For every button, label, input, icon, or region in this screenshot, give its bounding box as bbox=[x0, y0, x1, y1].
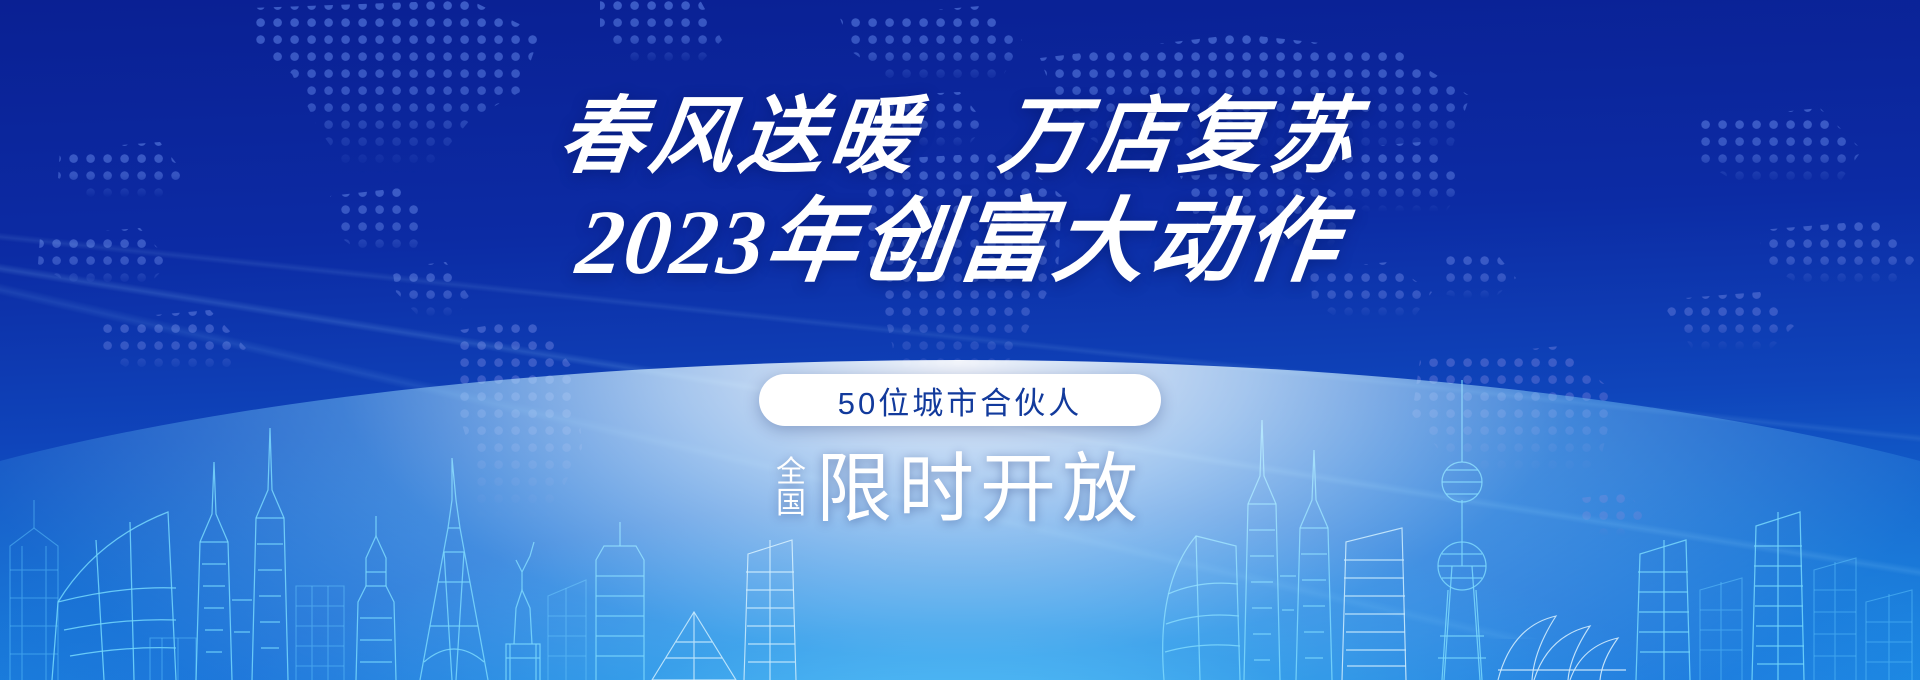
headline-year: 2023 bbox=[572, 191, 773, 293]
banner-content: 春风送暖 万店复苏 2023年创富大动作 50位城市合伙人 全 国 限时开放 bbox=[0, 0, 1920, 680]
partner-count-badge-label: 50位城市合伙人 bbox=[838, 378, 1082, 423]
promo-banner: 春风送暖 万店复苏 2023年创富大动作 50位城市合伙人 全 国 限时开放 bbox=[0, 0, 1920, 680]
partner-count-badge: 50位城市合伙人 bbox=[759, 374, 1161, 426]
nationwide-label-top: 全 bbox=[776, 458, 806, 489]
headline-line-1-part-1: 春风送暖 bbox=[554, 91, 925, 184]
limited-time-open-label: 限时开放 bbox=[816, 452, 1144, 528]
headline-line-2: 2023年创富大动作 bbox=[572, 196, 1347, 288]
nationwide-label-bottom: 国 bbox=[776, 489, 806, 520]
availability-subline: 全 国 限时开放 bbox=[776, 452, 1144, 528]
headline-line-1: 春风送暖 万店复苏 bbox=[555, 96, 1365, 180]
headline-line-2-rest: 年创富大动作 bbox=[760, 191, 1349, 293]
headline-line-1-part-2: 万店复苏 bbox=[994, 91, 1365, 184]
nationwide-label: 全 国 bbox=[776, 458, 806, 521]
